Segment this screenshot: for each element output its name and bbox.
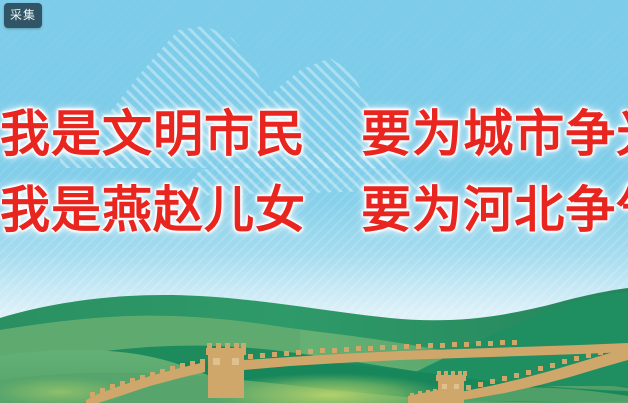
slogan-line-2: 我是燕赵儿女 要为河北争气 [0,172,628,248]
poster-canvas: 我是文明市民 要为城市争光 我是燕赵儿女 要为河北争气 采集 [0,0,628,403]
capture-button[interactable]: 采集 [4,3,42,28]
slogan-line-1: 我是文明市民 要为城市争光 [0,96,628,172]
slogan-block: 我是文明市民 要为城市争光 我是燕赵儿女 要为河北争气 [0,96,628,248]
